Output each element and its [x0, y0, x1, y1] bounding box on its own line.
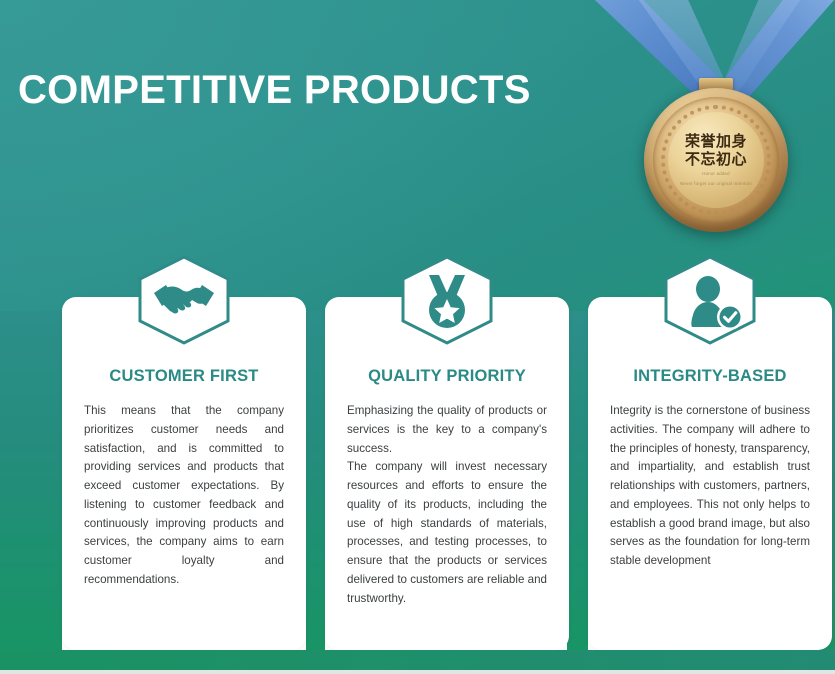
card-body: Integrity is the cornerstone of business…	[610, 402, 810, 571]
card-heading: CUSTOMER FIRST	[62, 367, 306, 386]
card-body: Emphasizing the quality of products or s…	[347, 402, 547, 609]
panel-gap-middle-1	[306, 311, 325, 674]
card-heading: INTEGRITY-BASED	[588, 367, 832, 386]
award-medal-star-icon	[399, 255, 495, 345]
slide-canvas: COMPETITIVE PRODUCTS	[0, 0, 835, 674]
feature-card-quality-priority[interactable]: QUALITY PRIORITY Emphasizing the quality…	[325, 297, 569, 650]
feature-card-customer-first[interactable]: CUSTOMER FIRST This means that the compa…	[62, 297, 306, 650]
panel-gap-left	[0, 311, 62, 674]
panel-gap-middle-2	[567, 311, 588, 674]
handshake-icon	[136, 255, 232, 345]
medal-face: 荣誉加身 不忘初心 Honor added Never forget our o…	[668, 112, 764, 208]
card-heading: QUALITY PRIORITY	[325, 367, 569, 386]
medal-english-line-1: Honor added	[702, 171, 730, 177]
medal-chinese-line-1: 荣誉加身	[685, 133, 747, 151]
page-title: COMPETITIVE PRODUCTS	[18, 68, 531, 113]
bottom-hairline	[0, 670, 835, 674]
medal-disc: 荣誉加身 不忘初心 Honor added Never forget our o…	[644, 88, 788, 232]
medal-graphic: 荣誉加身 不忘初心 Honor added Never forget our o…	[560, 0, 835, 236]
medal-chinese-line-2: 不忘初心	[685, 151, 747, 169]
feature-card-integrity-based[interactable]: INTEGRITY-BASED Integrity is the corners…	[588, 297, 832, 650]
card-body: This means that the company prioritizes …	[84, 402, 284, 590]
medal-english-line-2: Never forget our original intention	[680, 181, 752, 187]
person-verified-check-icon	[662, 255, 758, 345]
